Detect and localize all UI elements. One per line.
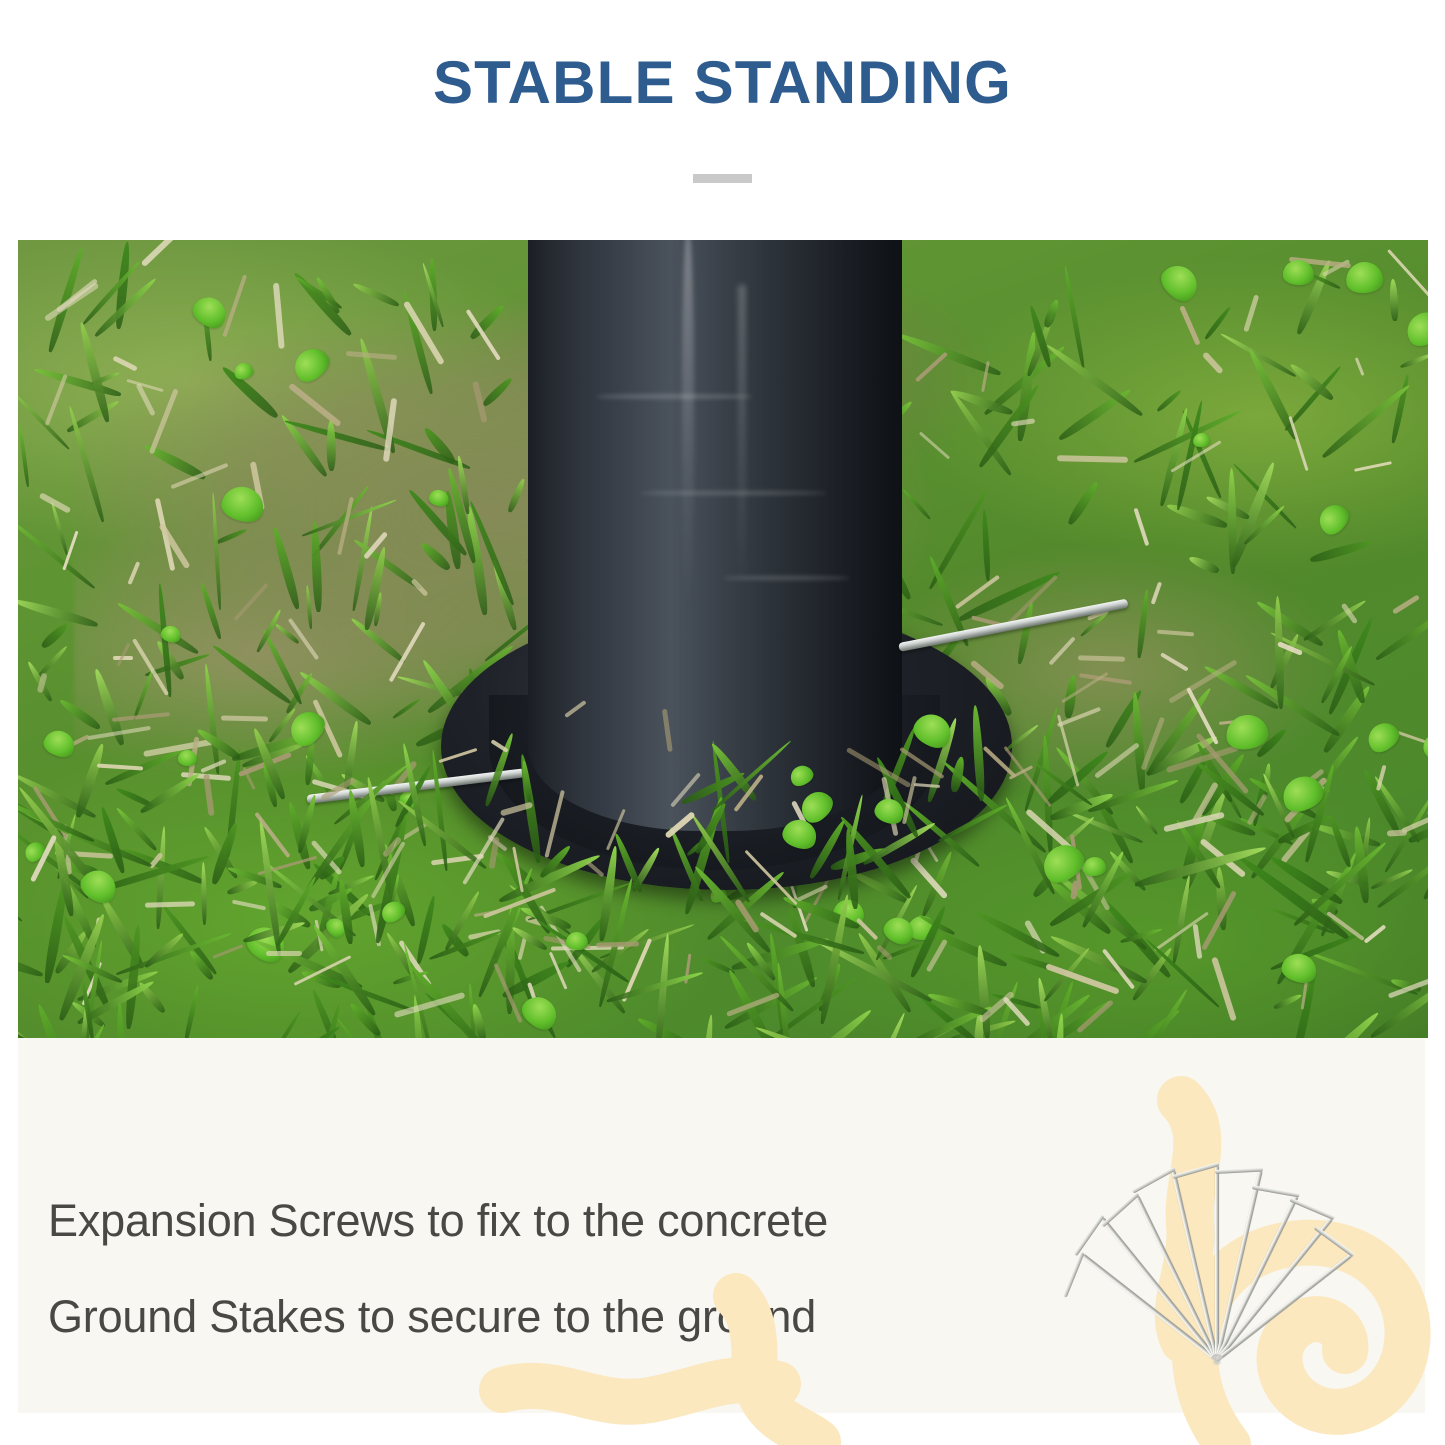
- clover-leaf: [41, 727, 79, 761]
- dry-thatch: [664, 811, 695, 839]
- dry-thatch: [203, 774, 214, 816]
- grass-blade: [754, 1024, 879, 1038]
- grass-blade: [908, 905, 948, 979]
- grass-blade: [430, 750, 449, 872]
- grass-blade: [336, 879, 354, 945]
- grass-blade: [195, 727, 241, 762]
- clover-leaf: [177, 749, 198, 767]
- grass-blade: [187, 949, 215, 982]
- promo-page: STABLE STANDING Expansion Screws to fix: [0, 0, 1445, 1445]
- grass-blade: [862, 820, 937, 867]
- dry-thatch: [112, 713, 170, 723]
- grass-blade: [139, 771, 201, 815]
- grass-blade: [1421, 790, 1428, 901]
- dry-thatch: [1387, 977, 1428, 999]
- dry-thatch: [662, 708, 673, 751]
- grass-blade: [1004, 724, 1040, 753]
- grass-blade: [1407, 821, 1428, 845]
- grass-blade: [45, 1023, 107, 1038]
- grass-blade: [18, 986, 30, 1038]
- stake-hook: [1063, 1252, 1085, 1298]
- stake-hook: [1074, 1215, 1105, 1257]
- page-title: STABLE STANDING: [0, 47, 1445, 119]
- dry-thatch: [494, 963, 523, 1023]
- grass-blade: [1144, 936, 1221, 1008]
- grass-blade: [115, 806, 158, 851]
- info-line-ground-stakes: Ground Stakes to secure to the ground: [48, 1269, 998, 1365]
- dry-thatch: [201, 759, 227, 773]
- grass-blade: [306, 1004, 343, 1038]
- grass-blade: [227, 865, 283, 890]
- grass-blade: [1371, 867, 1414, 890]
- stake-hook: [1215, 1167, 1263, 1174]
- dry-thatch: [439, 748, 478, 764]
- dry-thatch: [982, 746, 1016, 779]
- dry-thatch: [1101, 948, 1134, 989]
- grass-blade: [115, 1002, 126, 1038]
- stake-shaft: [1215, 1196, 1298, 1361]
- dry-thatch: [145, 902, 195, 908]
- dry-thatch: [221, 716, 268, 722]
- clover-leaf: [1418, 728, 1428, 762]
- dry-thatch: [1193, 924, 1203, 959]
- grass-blade: [328, 873, 375, 896]
- dry-thatch: [1387, 830, 1407, 837]
- ground-stake: [1215, 1148, 1219, 1360]
- grass-blade: [296, 794, 318, 854]
- dry-thatch: [1202, 891, 1238, 951]
- info-line-expansion-screws: Expansion Screws to fix to the concrete: [48, 1173, 998, 1269]
- stake-hook: [1172, 1162, 1219, 1179]
- grass-blade: [1327, 813, 1353, 868]
- dry-thatch: [1076, 999, 1113, 1033]
- dry-thatch: [797, 884, 829, 902]
- grass-blade: [855, 1012, 907, 1038]
- dry-thatch: [30, 834, 57, 882]
- grass-blade: [183, 984, 201, 1038]
- header: STABLE STANDING: [0, 0, 1445, 240]
- dry-thatch: [242, 767, 255, 790]
- grass-blades-foreground: [18, 240, 1428, 1038]
- stake-hook: [1101, 1192, 1139, 1227]
- dry-thatch: [96, 763, 142, 771]
- dry-thatch: [545, 790, 565, 858]
- dry-thatch: [856, 918, 879, 941]
- dry-thatch: [1002, 996, 1031, 1027]
- stake-hook: [1314, 1226, 1355, 1257]
- stake-hook: [1252, 1185, 1300, 1197]
- dry-thatch: [1427, 807, 1428, 816]
- grass-blade: [974, 909, 1061, 960]
- grass-blade: [18, 993, 38, 1038]
- grass-blade: [938, 803, 1009, 844]
- dry-thatch: [232, 900, 266, 911]
- title-divider: [693, 174, 752, 183]
- stake-hook: [1289, 1198, 1335, 1220]
- dry-thatch: [596, 941, 639, 947]
- dry-thatch: [266, 951, 302, 955]
- clover-leaf: [517, 990, 563, 1035]
- grass-blade: [401, 743, 429, 847]
- clover-leaf: [1363, 717, 1404, 757]
- stake-hook: [1132, 1167, 1176, 1194]
- stake-shaft: [1215, 1166, 1219, 1360]
- ground-stake: [1215, 1179, 1306, 1361]
- dry-thatch: [549, 952, 568, 990]
- dry-thatch: [587, 861, 605, 877]
- clover-leaf: [787, 762, 816, 790]
- ground-stakes-fan-illustration: [1000, 1130, 1430, 1360]
- product-photo: [18, 240, 1428, 1038]
- grass-blade: [201, 862, 208, 925]
- dry-thatch: [1376, 765, 1386, 791]
- info-text-group: Expansion Screws to fix to the concrete …: [48, 1173, 998, 1365]
- grass-blade: [265, 1009, 302, 1038]
- clover-leaf: [565, 931, 588, 950]
- grass-blade: [696, 1014, 715, 1038]
- grass-blade: [949, 756, 966, 793]
- dry-thatch: [564, 700, 587, 718]
- grass-blade: [209, 821, 240, 886]
